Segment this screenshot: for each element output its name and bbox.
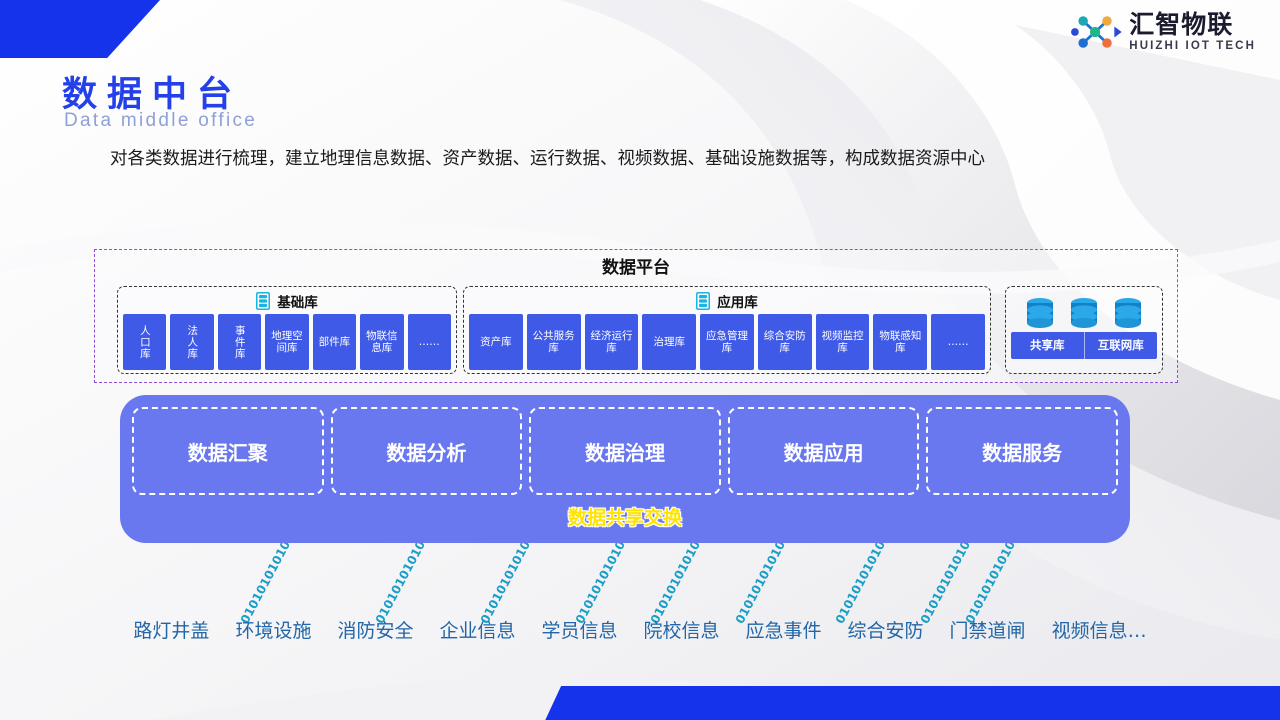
brand-logo: 汇智物联 HUIZHI IOT TECH <box>1070 10 1256 54</box>
library-cell[interactable]: 经济运行库 <box>585 314 639 370</box>
source-tag[interactable]: 应急事件 <box>746 616 822 643</box>
database-label-row: 共享库 互联网库 <box>1011 332 1157 359</box>
library-cell[interactable]: 物联信息库 <box>360 314 403 370</box>
source-tag[interactable]: 企业信息 <box>439 616 515 643</box>
library-group-app-cells: 资产库 公共服务库 经济运行库 治理库 应急管理库 综合安防库 视频监控库 物联… <box>464 312 990 370</box>
molecule-network-icon <box>1070 10 1122 54</box>
library-cell[interactable]: 物联感知库 <box>873 314 927 370</box>
capability-row: 数据汇聚 数据分析 数据治理 数据应用 数据服务 <box>120 395 1130 495</box>
source-tag[interactable]: 门禁道闸 <box>950 616 1026 643</box>
server-rack-icon <box>696 292 710 310</box>
library-cell[interactable]: 资产库 <box>469 314 523 370</box>
brand-name-en: HUIZHI IOT TECH <box>1129 40 1256 52</box>
source-tag[interactable]: 综合安防 <box>848 616 924 643</box>
library-cell[interactable]: 公共服务库 <box>527 314 581 370</box>
library-group-app: 应用库 资产库 公共服务库 经济运行库 治理库 应急管理库 综合安防库 视频监控… <box>463 286 991 374</box>
capability-item-application[interactable]: 数据应用 <box>728 407 920 495</box>
database-cylinder-icon <box>1069 297 1099 329</box>
database-cylinder-icon <box>1113 297 1143 329</box>
data-platform-title: 数据平台 <box>95 253 1177 278</box>
database-label[interactable]: 互联网库 <box>1084 332 1158 359</box>
library-group-base: 基础库 人口库 法人库 事件库 地理空间库 部件库 物联信息库 …… <box>117 286 457 374</box>
source-tag[interactable]: 环境设施 <box>235 616 311 643</box>
source-tag[interactable]: 院校信息 <box>644 616 720 643</box>
capability-panel: 数据汇聚 数据分析 数据治理 数据应用 数据服务 数据共享交换 <box>120 395 1130 543</box>
library-cell[interactable]: 综合安防库 <box>758 314 812 370</box>
capability-item-service[interactable]: 数据服务 <box>926 407 1118 495</box>
capability-footer-label: 数据共享交换 <box>120 503 1130 530</box>
library-cell[interactable]: 地理空间库 <box>265 314 308 370</box>
library-cell[interactable]: 应急管理库 <box>700 314 754 370</box>
capability-item-aggregation[interactable]: 数据汇聚 <box>132 407 324 495</box>
library-cell[interactable]: 事件库 <box>218 314 261 370</box>
capability-item-governance[interactable]: 数据治理 <box>529 407 721 495</box>
database-group: 共享库 互联网库 <box>1005 286 1163 374</box>
source-tag[interactable]: 学员信息 <box>541 616 617 643</box>
brand-name-cn: 汇智物联 <box>1129 12 1233 38</box>
capability-item-analysis[interactable]: 数据分析 <box>331 407 523 495</box>
source-tag[interactable]: 消防安全 <box>337 616 413 643</box>
database-label[interactable]: 共享库 <box>1011 332 1084 359</box>
library-cell[interactable]: …… <box>408 314 451 370</box>
library-cell[interactable]: 视频监控库 <box>816 314 870 370</box>
library-group-base-header: 基础库 <box>118 290 456 312</box>
library-group-base-label: 基础库 <box>277 291 318 311</box>
page-description: 对各类数据进行梳理，建立地理信息数据、资产数据、运行数据、视频数据、基础设施数据… <box>110 138 1175 180</box>
database-icon-row <box>1006 287 1162 329</box>
database-cylinder-icon <box>1025 297 1055 329</box>
data-platform-panel: 数据平台 基础库 人口库 法人库 事件库 地理空间库 部件库 物联信息库 …… <box>94 249 1178 383</box>
source-tag[interactable]: 视频信息… <box>1052 616 1147 643</box>
source-tag-list: 路灯井盖 环境设施 消防安全 企业信息 学员信息 院校信息 应急事件 综合安防 … <box>0 616 1280 643</box>
library-cell[interactable]: 人口库 <box>123 314 166 370</box>
source-tag[interactable]: 路灯井盖 <box>133 616 209 643</box>
library-group-base-cells: 人口库 法人库 事件库 地理空间库 部件库 物联信息库 …… <box>118 312 456 370</box>
bottom-right-accent-bar <box>490 686 1280 720</box>
library-cell[interactable]: 部件库 <box>313 314 356 370</box>
library-cell[interactable]: …… <box>931 314 985 370</box>
library-cell[interactable]: 法人库 <box>170 314 213 370</box>
page-subtitle: Data middle office <box>64 110 257 132</box>
library-group-app-label: 应用库 <box>717 291 758 311</box>
library-cell[interactable]: 治理库 <box>642 314 696 370</box>
server-rack-icon <box>256 292 270 310</box>
library-group-app-header: 应用库 <box>464 290 990 312</box>
